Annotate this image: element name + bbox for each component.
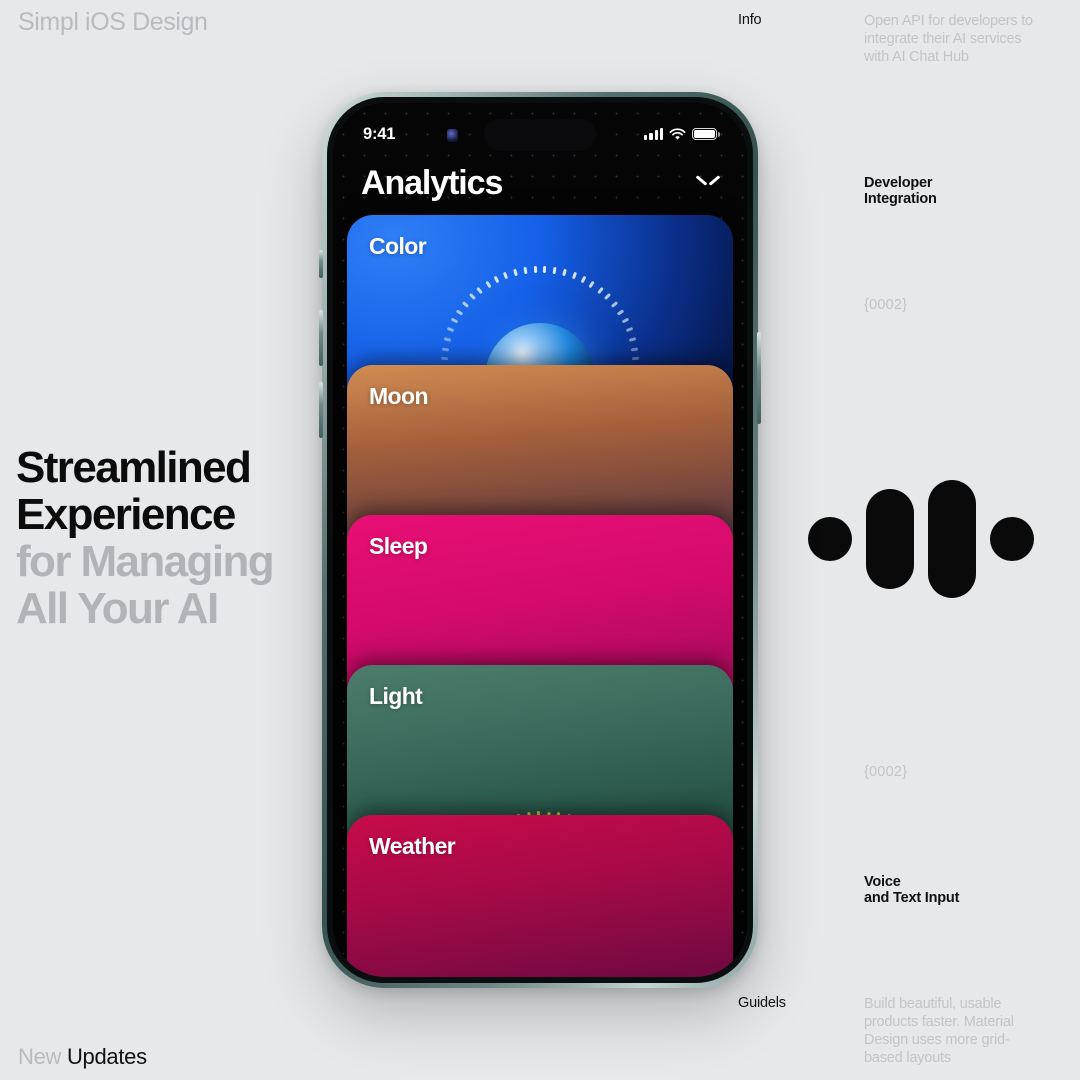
card-title: Weather	[369, 833, 455, 860]
voice-input-line-1: Voice	[864, 875, 959, 891]
cellular-signal-icon	[644, 128, 663, 140]
annotation-info-body: Open API for developers to integrate the…	[864, 12, 1042, 66]
phone-mockup: 9:41 Analytics Color	[322, 92, 758, 988]
developer-integration-line-1: Developer	[864, 176, 937, 192]
volume-up-button[interactable]	[319, 310, 323, 366]
waveform-dot-right	[990, 517, 1034, 561]
info-label: Info	[738, 12, 761, 28]
annotation-info-label: Info	[738, 12, 761, 28]
status-bar-time: 9:41	[363, 125, 395, 144]
waveform-bar-center	[928, 480, 976, 598]
card-title: Light	[369, 683, 422, 710]
card-title: Moon	[369, 383, 428, 410]
developer-integration-line-2: Integration	[864, 192, 937, 208]
status-bar: 9:41	[333, 117, 747, 151]
headline-line-1: Streamlined	[16, 444, 273, 491]
audio-waveform-icon	[808, 485, 1034, 593]
phone-screen: 9:41 Analytics Color	[333, 103, 747, 977]
chevron-down-icon[interactable]	[695, 170, 721, 196]
code-label-top: {0002}	[864, 297, 907, 313]
footer-updates-label: Updates	[67, 1044, 147, 1069]
voice-input-line-2: and Text Input	[864, 891, 959, 907]
headline-line-4: All Your AI	[16, 585, 273, 632]
wifi-icon	[669, 128, 686, 141]
annotation-developer-integration: Developer Integration	[864, 176, 937, 207]
waveform-dot-left	[808, 517, 852, 561]
card-weather[interactable]: Weather	[347, 815, 733, 977]
poster-title: Simpl iOS Design	[18, 8, 208, 37]
status-bar-icons	[644, 128, 717, 141]
battery-icon	[692, 128, 717, 141]
volume-down-button[interactable]	[319, 382, 323, 438]
headline-line-2: Experience	[16, 491, 273, 538]
app-header: Analytics	[333, 155, 747, 211]
power-button[interactable]	[757, 332, 761, 424]
annotation-voice-text-input: Voice and Text Input	[864, 875, 959, 906]
annotation-guidelines-label: Guidels	[738, 995, 786, 1011]
info-body-text: Open API for developers to integrate the…	[864, 12, 1042, 66]
annotation-guidelines-body: Build beautiful, usable products faster.…	[864, 995, 1042, 1067]
waveform-bar-mid-left	[866, 489, 914, 589]
page-title: Analytics	[361, 164, 502, 203]
footer-new-updates: New Updates	[18, 1044, 147, 1070]
card-title: Color	[369, 233, 426, 260]
card-stack: Color Moon Sleep	[333, 215, 747, 977]
mute-switch[interactable]	[319, 250, 323, 278]
headline-line-3: for Managing	[16, 538, 273, 585]
headline: Streamlined Experience for Managing All …	[16, 444, 273, 632]
footer-new-label: New	[18, 1044, 61, 1069]
code-label-bottom: {0002}	[864, 764, 907, 780]
card-title: Sleep	[369, 533, 427, 560]
guidelines-label: Guidels	[738, 995, 786, 1011]
guidelines-body-text: Build beautiful, usable products faster.…	[864, 995, 1042, 1067]
